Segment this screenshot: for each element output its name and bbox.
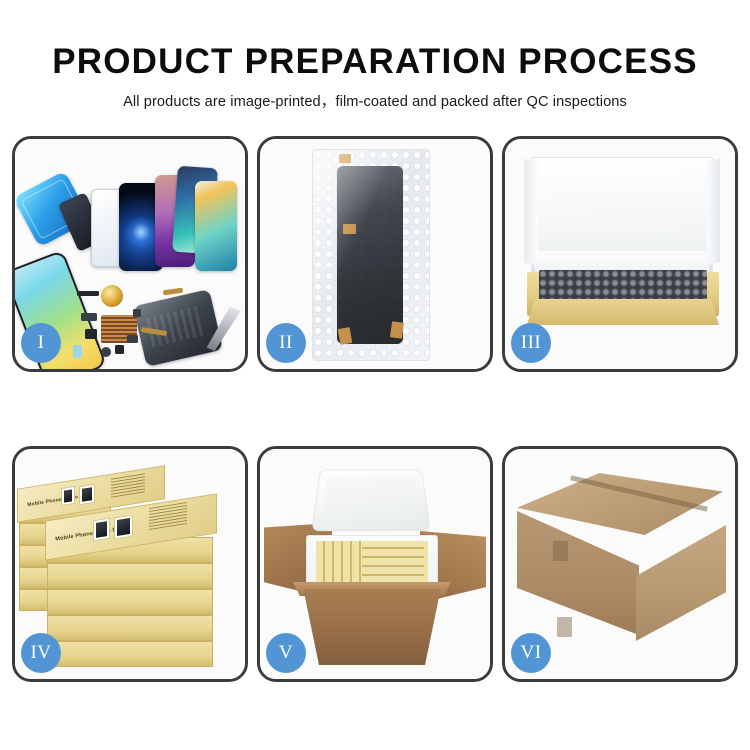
step-badge-5: V xyxy=(266,633,306,673)
carton-body xyxy=(294,589,450,665)
process-step-panel-2: II xyxy=(257,136,493,372)
phone-gradient-screen xyxy=(195,181,237,271)
process-step-panel-1: I xyxy=(12,136,248,372)
step-badge-2: II xyxy=(266,323,306,363)
tape-piece-3 xyxy=(338,327,353,345)
box-window-front-2 xyxy=(114,514,133,539)
carton-right-face xyxy=(636,525,726,641)
process-step-panel-3: III xyxy=(502,136,738,372)
small-part-6 xyxy=(127,335,138,343)
stacked-box-front-5 xyxy=(47,641,213,667)
small-part-4 xyxy=(101,347,111,357)
header: PRODUCT PREPARATION PROCESS All products… xyxy=(0,0,750,111)
packed-boxes-row-2 xyxy=(362,541,424,583)
stacked-box-front-4 xyxy=(47,615,213,641)
tape-piece-2 xyxy=(343,224,356,234)
bubble-wrap-sleeve xyxy=(312,149,430,361)
stacked-box-front-2 xyxy=(47,563,213,589)
small-part-5 xyxy=(115,345,124,354)
process-step-panel-6: VI xyxy=(502,446,738,682)
tape-piece-1 xyxy=(339,154,351,163)
page-title: PRODUCT PREPARATION PROCESS xyxy=(0,0,750,81)
process-step-panel-5: V xyxy=(257,446,493,682)
small-part-3 xyxy=(85,329,97,339)
carton-handle-tab-bottom xyxy=(557,617,572,637)
small-part-2 xyxy=(81,313,97,321)
step-badge-4: IV xyxy=(21,633,61,673)
styrofoam-lid xyxy=(311,470,430,532)
box-window-rear-1 xyxy=(61,486,75,506)
step-badge-3: III xyxy=(511,323,551,363)
stacked-box-front-3 xyxy=(47,589,213,615)
process-step-panel-4: Mobile Phone Spare Parts Mobile Phone Sp… xyxy=(12,446,248,682)
product-preparation-infographic: PRODUCT PREPARATION PROCESS All products… xyxy=(0,0,750,750)
step-badge-6: VI xyxy=(511,633,551,673)
tape-piece-4 xyxy=(390,321,404,339)
page-subtitle: All products are image-printed，film-coat… xyxy=(0,81,750,111)
flex-cable-1 xyxy=(163,288,184,296)
process-step-grid: I II xyxy=(12,136,738,682)
box-window-front-1 xyxy=(93,518,110,542)
carton-handle-tab-top xyxy=(553,541,568,561)
wrapped-screen-assembly xyxy=(337,166,403,344)
box-window-rear-2 xyxy=(79,484,95,506)
small-part-8 xyxy=(133,309,141,317)
small-part-1 xyxy=(77,291,99,296)
bubble-wrapped-contents xyxy=(539,270,707,302)
vibration-motor-part xyxy=(101,285,123,307)
kraft-box-front-panel xyxy=(527,299,719,325)
step-badge-1: I xyxy=(21,323,61,363)
small-part-7 xyxy=(73,345,82,358)
